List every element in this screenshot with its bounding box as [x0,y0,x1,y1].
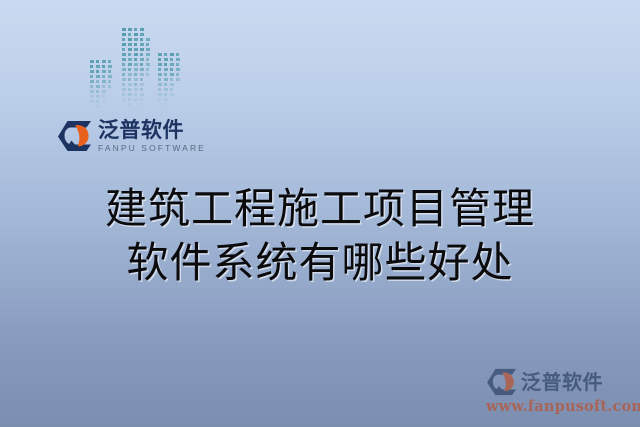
watermark-name-cn: 泛普软件 [521,371,603,393]
page-title-line-2: 软件系统有哪些好处 [0,236,640,290]
watermark: 泛普软件 www.fanpusoft.com [486,367,632,415]
watermark-url: www.fanpusoft.com [486,398,632,415]
brand-wordmark: 泛普软件 FANPU SOFTWARE [98,119,206,154]
pixel-city-skyline-icon [86,26,198,116]
brand-name-cn: 泛普软件 [98,119,206,142]
brand-name-en: FANPU SOFTWARE [98,143,206,154]
page-title: 建筑工程施工项目管理 软件系统有哪些好处 [0,182,640,290]
page-title-line-1: 建筑工程施工项目管理 [0,182,640,236]
watermark-logo: 泛普软件 [486,367,632,397]
fanpu-logo-mark-icon [57,120,93,152]
fanpu-logo-mark-watermark-icon [486,368,518,396]
promo-banner: 泛普软件 FANPU SOFTWARE 建筑工程施工项目管理 软件系统有哪些好处… [0,0,640,427]
brand-logo: 泛普软件 FANPU SOFTWARE [57,115,206,157]
